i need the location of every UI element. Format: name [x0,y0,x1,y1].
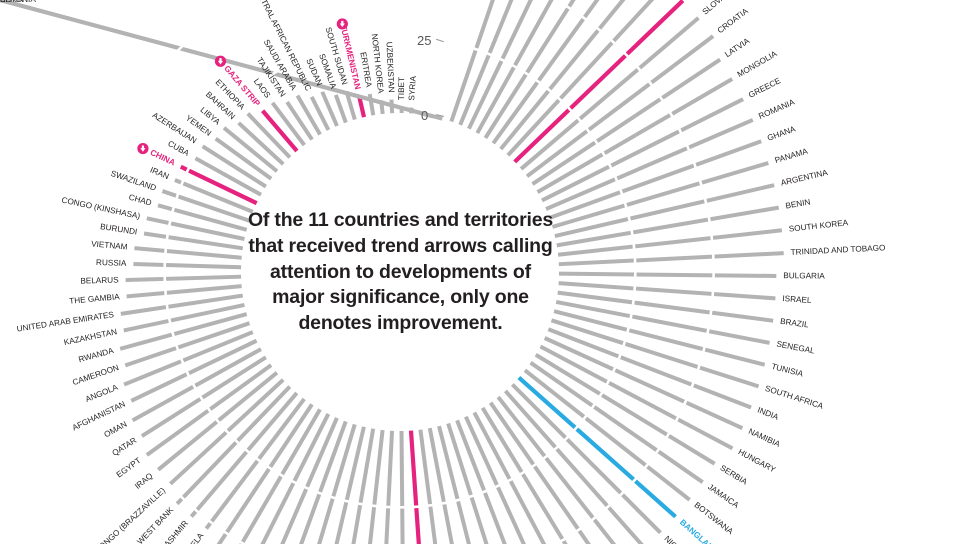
axis-tick-25: 25 [417,33,431,48]
radial-bar-plot: SYRIATIBETUZBEKISTANNORTH KOREAERITREATU… [0,0,966,544]
center-hub [244,116,556,428]
country-label-namibia: NAMIBIA [747,427,782,449]
country-label-argentina: ARGENTINA [780,168,829,188]
bar-trinidad-and-tobago [559,253,784,264]
bar-guinea-bissau [430,428,466,544]
radial-chart-figure: SYRIATIBETUZBEKISTANNORTH KOREAERITREATU… [0,0,966,544]
country-label-bulgaria: BULGARIA [783,271,825,280]
bar-the-gambia [127,286,242,296]
country-label-qatar: QATAR [111,436,139,458]
bar-south-korea [558,230,782,254]
country-label-south-africa: SOUTH AFRICA [764,384,825,411]
country-label-egypt: EGYPT [115,456,143,480]
country-label-latvia: LATVIA [723,36,751,59]
country-label-croatia: CROATIA [716,6,750,35]
country-label-senegal: SENEGAL [776,339,816,355]
country-label-vietnam: VIETNAM [91,239,128,251]
country-label-mongolia: MONGOLIA [736,49,779,79]
country-label-oman: OMAN [103,420,129,440]
country-label-tibet: TIBET [397,77,406,100]
country-label-panama: PANAMA [774,147,810,165]
country-label-trinidad-and-tobago: TRINIDAD AND TOBAGO [790,243,885,257]
bar-belarus [126,277,241,280]
bar-jordan [402,431,404,544]
bar-saudi-arabia [297,96,320,135]
country-label-slovakia: SLOVAKIA [701,0,738,17]
country-label-chad: CHAD [128,193,153,208]
country-label-ghana: GHANA [766,124,797,143]
arrow-down-badge-gaza-strip [215,56,226,67]
bar-kuwait [362,430,382,544]
country-label-brazil: BRAZIL [780,317,810,330]
country-label-burundi: BURUNDI [100,222,138,236]
bar-somalia [336,95,346,123]
country-label-congo-brazzaville-: CONGO (BRAZZAVILLE) [93,486,167,544]
country-label-russia: RUSSIA [96,258,127,268]
bar-kyrgyzstan [382,431,392,544]
country-label-the-gambia: THE GAMBIA [69,292,121,306]
country-label-jamaica: JAMAICA [706,482,741,510]
country-label-syria: SYRIA [407,75,418,101]
axis-tick-0: 0 [421,108,428,123]
country-label-iran: IRAN [149,165,171,181]
country-label-serbia: SERBIA [718,463,749,487]
country-label-estonia: ESTONIA [0,0,36,4]
arrow-down-badge-turkmenistan [337,18,348,29]
country-label-iraq: IRAQ [133,471,154,491]
bar-bulgaria [559,274,776,276]
country-label-benin: BENIN [785,197,811,210]
country-label-tunisia: TUNISIA [770,362,804,379]
bar-myanmar [304,424,355,544]
bar-afghanistan [131,341,256,401]
country-label-uzbekistan: UZBEKISTAN [384,42,396,93]
arrow-down-badge-china [137,143,148,154]
bar-tajikistan [287,102,312,139]
country-label-india: INDIA [756,406,780,422]
bar-eritrea [370,94,374,115]
bar-russia [133,264,241,267]
country-label-israel: ISRAEL [782,294,812,305]
bar-italy [501,0,649,149]
bar-vietnam [134,248,241,258]
country-label-romania: ROMANIA [757,97,796,121]
country-label-south-korea: SOUTH KOREA [788,218,849,233]
country-label-hungary: HUNGARY [737,447,778,474]
country-label-greece: GREECE [747,76,782,100]
country-label-belarus: BELARUS [80,275,119,285]
